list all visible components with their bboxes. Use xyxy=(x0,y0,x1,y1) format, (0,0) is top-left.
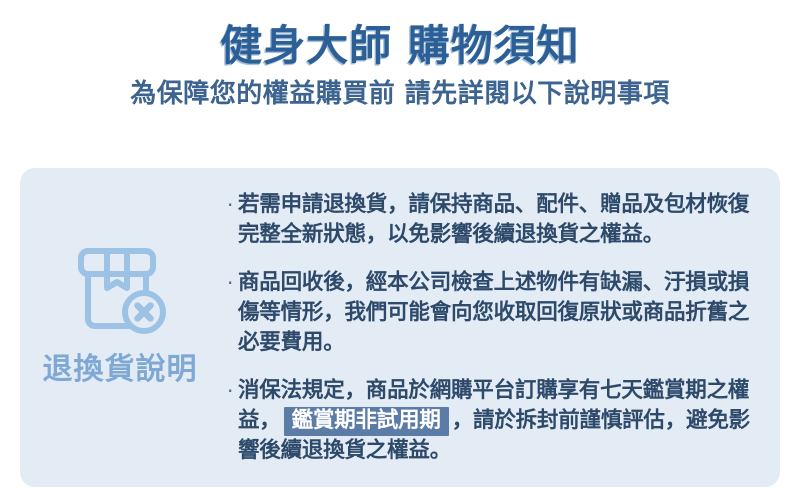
list-item: · 若需申請退換貨，請保持商品、配件、贈品及包材恢復完整全新狀態，以免影響後續退… xyxy=(226,190,762,250)
return-policy-icon-column: 退換貨說明 xyxy=(20,168,220,388)
return-policy-icon-label: 退換貨說明 xyxy=(43,344,198,388)
bullet-segment: 若需申請退換貨，請保持商品、配件、贈品及包材恢復完整全新狀態，以免影響後續退換貨… xyxy=(238,192,749,247)
bullet-marker: · xyxy=(226,376,238,406)
list-item: · 消保法規定，商品於網購平台訂購享有七天鑑賞期之權益，鑑賞期非試用期，請於拆封… xyxy=(226,376,762,466)
return-box-icon xyxy=(72,246,168,334)
bullet-marker: · xyxy=(226,268,238,298)
bullet-text: 商品回收後，經本公司檢查上述物件有缺漏、汙損或損傷等情形，我們可能會向您收取回復… xyxy=(238,268,762,358)
page-title: 健身大師 購物須知 xyxy=(0,22,800,69)
highlighted-term: 鑑賞期非試用期 xyxy=(284,407,449,436)
list-item: · 商品回收後，經本公司檢查上述物件有缺漏、汙損或損傷等情形，我們可能會向您收取… xyxy=(226,268,762,358)
bullet-text: 若需申請退換貨，請保持商品、配件、贈品及包材恢復完整全新狀態，以免影響後續退換貨… xyxy=(238,190,762,250)
page-subtitle: 為保障您的權益購買前 請先詳閱以下說明事項 xyxy=(0,79,800,110)
bullet-text: 消保法規定，商品於網購平台訂購享有七天鑑賞期之權益，鑑賞期非試用期，請於拆封前謹… xyxy=(238,376,762,466)
bullet-segment: 商品回收後，經本公司檢查上述物件有缺漏、汙損或損傷等情形，我們可能會向您收取回復… xyxy=(238,270,749,355)
return-policy-card: 退換貨說明 · 若需申請退換貨，請保持商品、配件、贈品及包材恢復完整全新狀態，以… xyxy=(20,168,780,487)
bullet-marker: · xyxy=(226,190,238,220)
page-header: 健身大師 購物須知 為保障您的權益購買前 請先詳閱以下說明事項 xyxy=(0,0,800,110)
return-policy-text-column: · 若需申請退換貨，請保持商品、配件、贈品及包材恢復完整全新狀態，以免影響後續退… xyxy=(220,168,780,466)
